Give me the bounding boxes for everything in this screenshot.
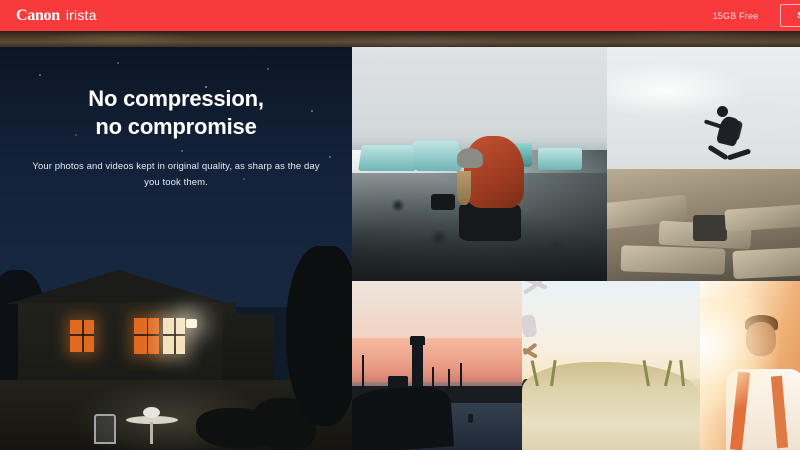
camera-icon: [431, 194, 455, 210]
image-crop-strip: [0, 31, 800, 47]
iceberg-2: [412, 141, 461, 171]
cabin-window-middle: [134, 318, 159, 354]
lighthouse-tower: [412, 343, 423, 389]
iceberg-4: [538, 148, 582, 170]
brand-name-irista: irista: [66, 8, 97, 22]
cabin-roof: [6, 270, 230, 304]
hero-title-line-1: No compression,: [0, 85, 352, 113]
cabin-window-left: [70, 320, 94, 352]
photo-lighthouse-at-sunset[interactable]: [352, 281, 522, 450]
lighthouse-lantern: [410, 336, 425, 345]
hiker-head: [717, 106, 728, 117]
rock-gap: [693, 215, 727, 241]
mast-pole-1: [362, 355, 364, 389]
photo-backpacker-in-sun-flare[interactable]: [700, 281, 800, 450]
cabin-body: [18, 302, 236, 392]
iceberg-1: [358, 145, 420, 171]
photo-two-people-jumping-on-dunes[interactable]: [522, 281, 700, 450]
sun-flare: [700, 298, 780, 416]
storage-free-label: 15GB Free: [713, 11, 759, 21]
brand-name-canon: Canon: [16, 8, 60, 24]
buoy-2: [468, 414, 473, 423]
header-actions: 15GB Free START: [713, 0, 800, 31]
porch-lamp-icon: [186, 319, 197, 328]
rock-slab-5: [732, 247, 800, 279]
hero-text-block: No compression, no compromise Your photo…: [0, 47, 352, 191]
foreground-rock: [352, 384, 454, 450]
garden-table-leg: [150, 422, 153, 444]
rock-slab-4: [621, 245, 726, 275]
mast-pole-2: [432, 367, 434, 389]
site-header: Canon irista 15GB Free START: [0, 0, 800, 31]
flower-vase: [143, 407, 160, 418]
start-free-button[interactable]: START: [780, 4, 800, 27]
photo-gallery-grid: [352, 47, 800, 450]
photo-photographer-on-glacier-ice[interactable]: [352, 47, 607, 281]
photo-hiker-leaping-across-rocks[interactable]: [607, 47, 800, 281]
sunset-sky-band: [352, 338, 522, 382]
mast-pole-4: [460, 363, 462, 389]
photographer-orange-jacket: [464, 136, 524, 208]
tree-right-silhouette: [286, 246, 352, 426]
cabin-window-right: [163, 318, 185, 354]
mast-pole-3: [448, 369, 450, 389]
landing-page: Canon irista 15GB Free START: [0, 0, 800, 450]
garden-chair: [94, 414, 116, 444]
brand-logo[interactable]: Canon irista: [16, 8, 97, 24]
hero-subtitle: Your photos and videos kept in original …: [26, 159, 326, 190]
hero-title-line-2: no compromise: [0, 113, 352, 141]
photographer-beanie: [457, 148, 483, 168]
sand-dune: [522, 362, 700, 450]
night-cabin-scene: [0, 235, 352, 450]
hero-panel: No compression, no compromise Your photo…: [0, 47, 352, 450]
photographer-hair: [457, 171, 471, 205]
hero-title: No compression, no compromise: [0, 85, 352, 141]
